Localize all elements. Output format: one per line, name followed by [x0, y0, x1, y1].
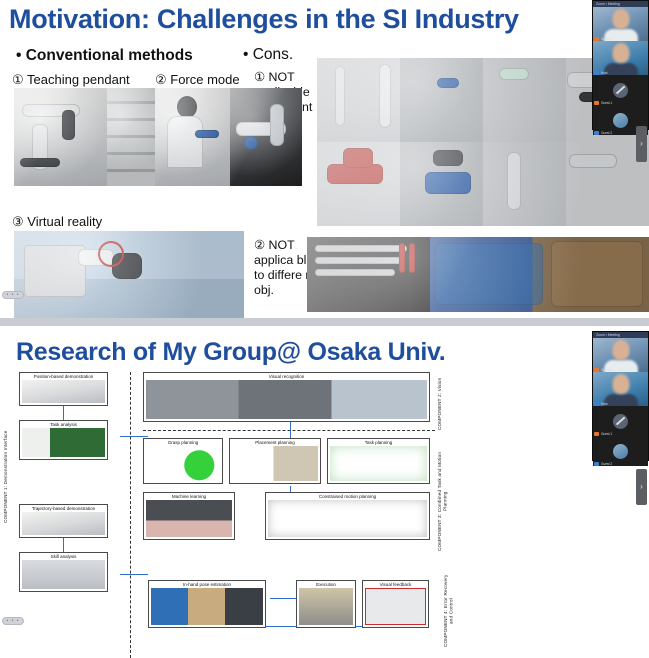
- drag-dots-icon: • • •: [6, 619, 19, 624]
- photo-grid-robots-row2: [317, 142, 649, 226]
- photo-virtual-reality-sim: [14, 231, 244, 318]
- zoom-participant-strip-2[interactable]: Zoom • Meeting Speaker Host Gue: [592, 331, 649, 461]
- photo-force-mode-ur-robot: [230, 88, 302, 186]
- participant-name: Guest 2: [601, 462, 612, 466]
- diagram-box-placement-planning[interactable]: Placement planning: [229, 438, 321, 484]
- box-caption: Constrained motion planning: [319, 493, 376, 500]
- zoom-video-tile-speaker-2[interactable]: Speaker: [593, 338, 648, 372]
- avatar: [613, 83, 628, 98]
- photo-force-mode-operator: [155, 88, 230, 186]
- label-virtual-reality: ③ Virtual reality: [12, 214, 102, 230]
- zoom-video-tile-host-2[interactable]: Host: [593, 372, 648, 406]
- diagram-divider-1: [130, 372, 131, 658]
- box-image: [232, 446, 318, 481]
- photo-shelf: [107, 88, 155, 186]
- label-force-mode: ② Force mode: [155, 72, 240, 88]
- participant-name: Guest 2: [601, 131, 612, 135]
- connector: [120, 436, 148, 437]
- box-image: [22, 512, 105, 535]
- slide-divider: [0, 318, 649, 326]
- bullet-conventional-methods: • Conventional methods: [16, 47, 193, 65]
- diagram-box-visual-feedback[interactable]: Visual feedback: [362, 580, 429, 628]
- mic-muted-icon: [594, 368, 599, 372]
- diagram-box-execution[interactable]: Execution: [296, 580, 356, 628]
- box-image: [146, 380, 427, 419]
- mic-muted-icon: [594, 101, 599, 105]
- avatar: [613, 444, 628, 459]
- mic-icon: [594, 131, 599, 135]
- participant-face: [612, 340, 629, 360]
- participant-status-bar: Guest 2: [593, 461, 648, 466]
- box-image: [146, 446, 220, 481]
- participant-face: [612, 43, 629, 63]
- connector: [63, 538, 64, 552]
- box-caption: Task analysis: [50, 421, 77, 428]
- box-image: [22, 428, 105, 457]
- diagram-box-skill-analysis[interactable]: Skill analysis: [19, 552, 108, 592]
- box-image: [268, 500, 427, 537]
- diagram-box-trajectory-demo[interactable]: Trajectory-based demonstration: [19, 504, 108, 538]
- box-caption: Visual feedback: [380, 581, 412, 588]
- component-label-3: COMPONENT 3: Combined Task and Motion Pl…: [437, 446, 448, 556]
- participant-name: Guest 1: [601, 101, 612, 105]
- mic-muted-icon: [594, 432, 599, 436]
- connector: [120, 574, 148, 575]
- diagram-box-visual-recognition[interactable]: Visual recognition: [143, 372, 430, 422]
- participant-name: Host: [601, 71, 608, 75]
- participant-name: Speaker: [601, 37, 613, 41]
- collapse-panel-handle[interactable]: ›: [636, 126, 647, 162]
- diagram-box-grasp-planning[interactable]: Grasp planning: [143, 438, 223, 484]
- mic-icon: [594, 462, 599, 466]
- box-caption: Placement planning: [255, 439, 295, 446]
- diagram-box-inhand-pose[interactable]: In-hand pose estimation: [148, 580, 266, 628]
- mic-muted-icon: [594, 37, 599, 41]
- connector: [63, 406, 64, 420]
- zoom-strip-title: Zoom • Meeting: [593, 2, 620, 6]
- box-caption: Position-based demonstration: [34, 373, 94, 380]
- page-title: Motivation: Challenges in the SI Industr…: [9, 4, 519, 35]
- participant-face: [612, 9, 629, 29]
- diagram-box-task-analysis[interactable]: Task analysis: [19, 420, 108, 460]
- diagram-box-constrained-motion[interactable]: Constrained motion planning: [265, 492, 430, 540]
- box-image: [299, 588, 353, 625]
- box-caption: Execution: [316, 581, 336, 588]
- drag-handle-left-2[interactable]: • • •: [2, 617, 24, 625]
- zoom-avatar-tile-muted-2[interactable]: Guest 1: [593, 406, 648, 436]
- component-label-4: COMPONENT 4: Error Recovery and Control: [443, 571, 454, 651]
- box-caption: In-hand pose estimation: [183, 581, 231, 588]
- zoom-avatar-tile-2[interactable]: Guest 2: [593, 436, 648, 466]
- photo-teaching-pendant-robot: [14, 88, 107, 186]
- zoom-video-tile-speaker[interactable]: Speaker: [593, 7, 648, 41]
- zoom-participant-strip[interactable]: Zoom • Meeting Speaker Host Gue: [592, 0, 649, 130]
- box-image: [22, 380, 105, 403]
- page-title-2: Research of My Group@ Osaka Univ.: [16, 338, 445, 367]
- box-image: [146, 500, 232, 537]
- avatar: [613, 113, 628, 128]
- box-image: [22, 560, 105, 589]
- component-label-2: COMPONENT 2: Vision: [437, 374, 443, 434]
- chevron-right-icon: ›: [640, 483, 643, 491]
- avatar: [613, 414, 628, 429]
- screen-share-viewport: Motivation: Challenges in the SI Industr…: [0, 0, 649, 658]
- diagram-box-position-demo[interactable]: Position-based demonstration: [19, 372, 108, 406]
- box-caption: Grasp planning: [168, 439, 199, 446]
- zoom-strip-title-2: Zoom • Meeting: [593, 333, 620, 337]
- participant-name: Guest 1: [601, 432, 612, 436]
- box-image: [330, 446, 427, 481]
- diagram-box-machine-learning[interactable]: Machine learning: [143, 492, 235, 540]
- participant-name: Speaker: [601, 368, 613, 372]
- box-image: [365, 588, 426, 625]
- box-caption: Visual recognition: [269, 373, 304, 380]
- component-label-1: COMPONENT 1: Demonstration Interface: [3, 382, 9, 572]
- drag-handle-left[interactable]: • • •: [2, 291, 24, 299]
- collapse-panel-handle-2[interactable]: ›: [636, 469, 647, 505]
- video-off-icon: [616, 417, 625, 426]
- video-off-icon: [616, 86, 625, 95]
- mic-icon: [594, 402, 599, 406]
- participant-face: [612, 374, 629, 394]
- box-caption: Machine learning: [172, 493, 206, 500]
- diagram-divider-2: [143, 430, 435, 431]
- chevron-right-icon: ›: [640, 140, 643, 148]
- slide-motivation[interactable]: Motivation: Challenges in the SI Industr…: [0, 0, 649, 318]
- zoom-video-tile-host[interactable]: Host: [593, 41, 648, 75]
- box-caption: Skill analysis: [51, 553, 77, 560]
- zoom-avatar-tile-muted[interactable]: Guest 1: [593, 75, 648, 105]
- box-caption: Trajectory-based demonstration: [32, 505, 95, 512]
- slide-research-group[interactable]: Research of My Group@ Osaka Univ. COMPON…: [0, 326, 649, 658]
- photo-tools-and-parts: [307, 237, 649, 312]
- mic-icon: [594, 71, 599, 75]
- diagram-box-task-planning[interactable]: Task planning: [327, 438, 430, 484]
- drag-dots-icon: • • •: [6, 293, 19, 298]
- box-image: [151, 588, 263, 625]
- participant-name: Host: [601, 402, 608, 406]
- label-teaching-pendant: ① Teaching pendant: [12, 72, 130, 88]
- bullet-cons: • Cons.: [243, 46, 293, 64]
- box-caption: Task planning: [365, 439, 393, 446]
